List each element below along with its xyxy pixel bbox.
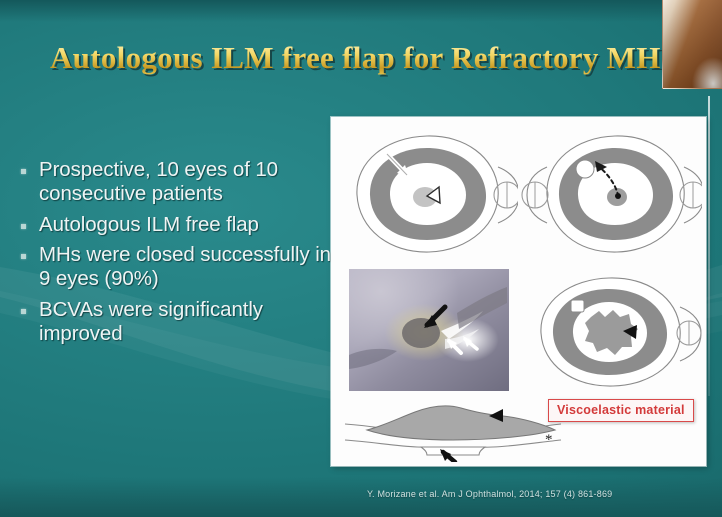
ilm-peeling-schematic [335, 121, 518, 266]
page-title: Autologous ILM free flap for Refractory … [50, 40, 661, 76]
bullet-marker-icon [21, 169, 26, 174]
presenter-webcam[interactable] [662, 0, 722, 89]
flap-transposition-schematic [519, 121, 702, 266]
bullet-marker-icon [21, 309, 26, 314]
white-arrow-2 [463, 336, 477, 349]
svg-text:*: * [545, 432, 553, 448]
list-item: Autologous ILM free flap [16, 213, 336, 237]
list-item: Prospective, 10 eyes of 10 consecutive p… [16, 158, 336, 206]
bullet-list: Prospective, 10 eyes of 10 consecutive p… [16, 158, 336, 352]
bullet-text: BCVAs were significantly improved [39, 298, 336, 346]
bullet-marker-icon [21, 254, 26, 259]
citation-text: Y. Morizane et al. Am J Ophthalmol, 2014… [367, 489, 612, 499]
oct-cross-section-schematic: * [343, 400, 563, 462]
viscoelastic-material-label: Viscoelastic material [548, 399, 694, 422]
black-arrow [424, 307, 445, 328]
webcam-shading [663, 0, 722, 88]
bullet-marker-icon [21, 224, 26, 229]
intraoperative-fundus-photo [349, 269, 509, 391]
list-item: BCVAs were significantly improved [16, 298, 336, 346]
presentation-slide: Autologous ILM free flap for Refractory … [0, 0, 722, 517]
bullet-text: MHs were closed successfully in 9 eyes (… [39, 243, 336, 291]
list-item: MHs were closed successfully in 9 eyes (… [16, 243, 336, 291]
bullet-text: Prospective, 10 eyes of 10 consecutive p… [39, 158, 336, 206]
slide-frame-line [708, 96, 710, 396]
flap-covering-hole-schematic [519, 267, 702, 397]
background-top-shade [0, 0, 722, 22]
bullet-text: Autologous ILM free flap [39, 213, 259, 237]
